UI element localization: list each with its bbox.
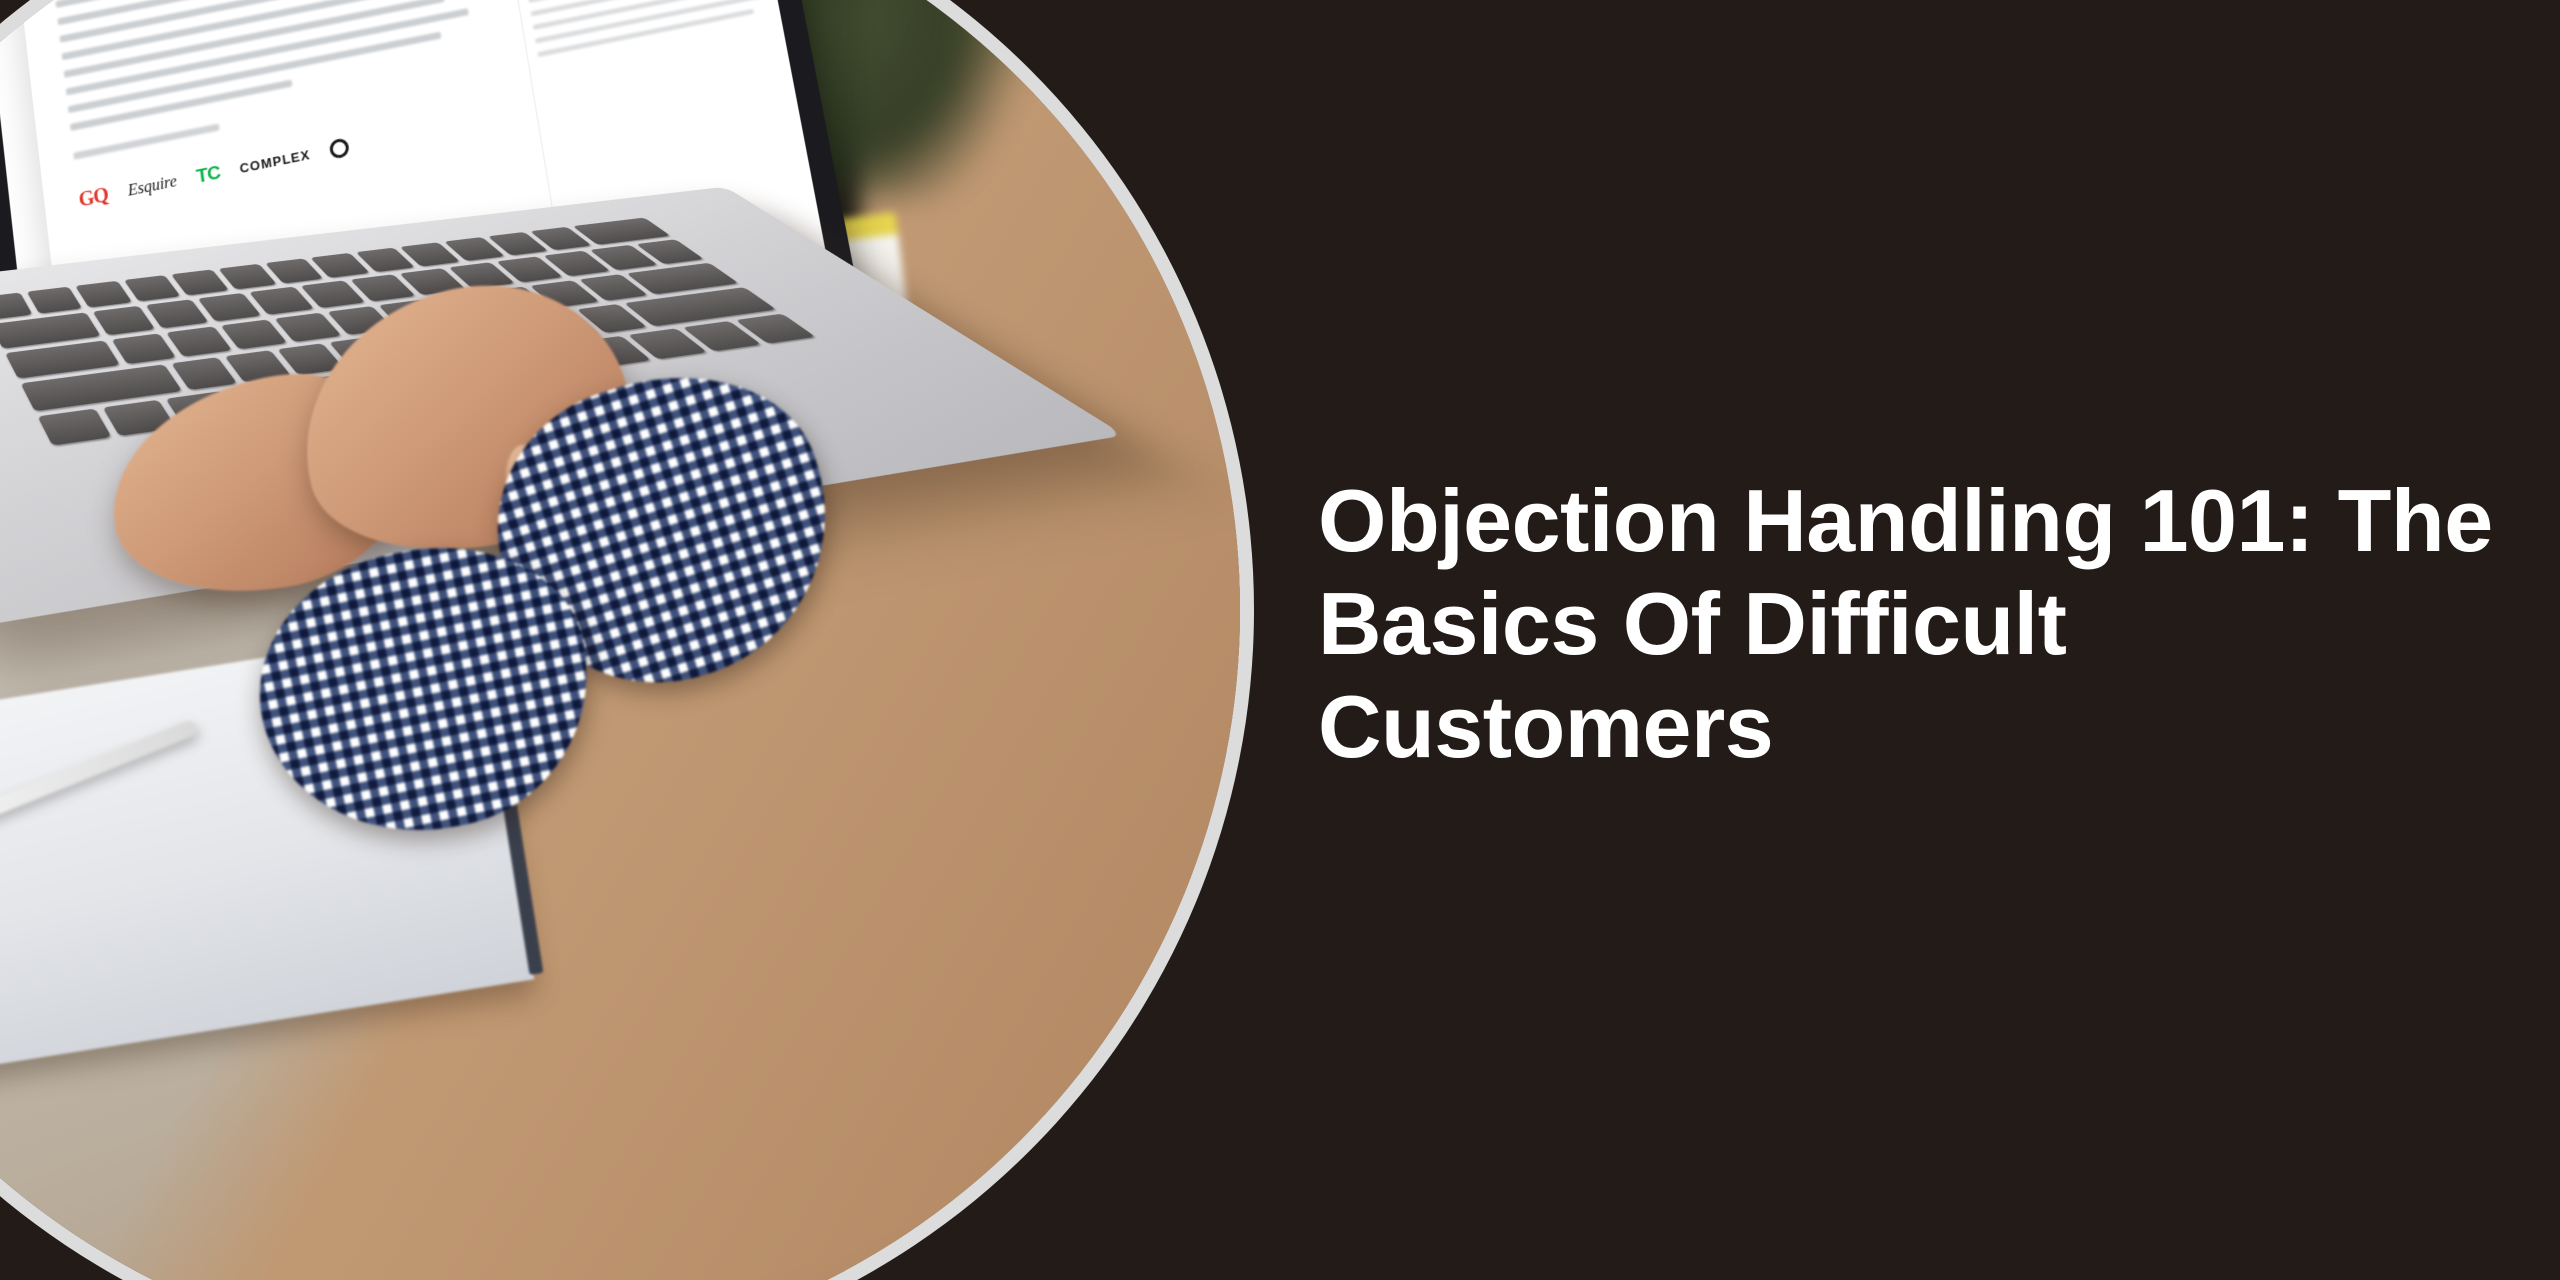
press-logo-strip: GQ Esquire TC COMPLEX — [78, 103, 508, 212]
complex-logo: COMPLEX — [239, 147, 312, 176]
techcrunch-logo: TC — [195, 162, 221, 189]
gq-logo: GQ — [78, 184, 110, 213]
esquire-logo: Esquire — [127, 172, 178, 200]
medium-logo-icon — [329, 137, 350, 160]
blog-hero-banner: Safari File Edit View History Bookmarks … — [0, 0, 2560, 1280]
hero-photo: Safari File Edit View History Bookmarks … — [0, 0, 1240, 1280]
page-title: Objection Handling 101: The Basics Of Di… — [1318, 470, 2498, 779]
